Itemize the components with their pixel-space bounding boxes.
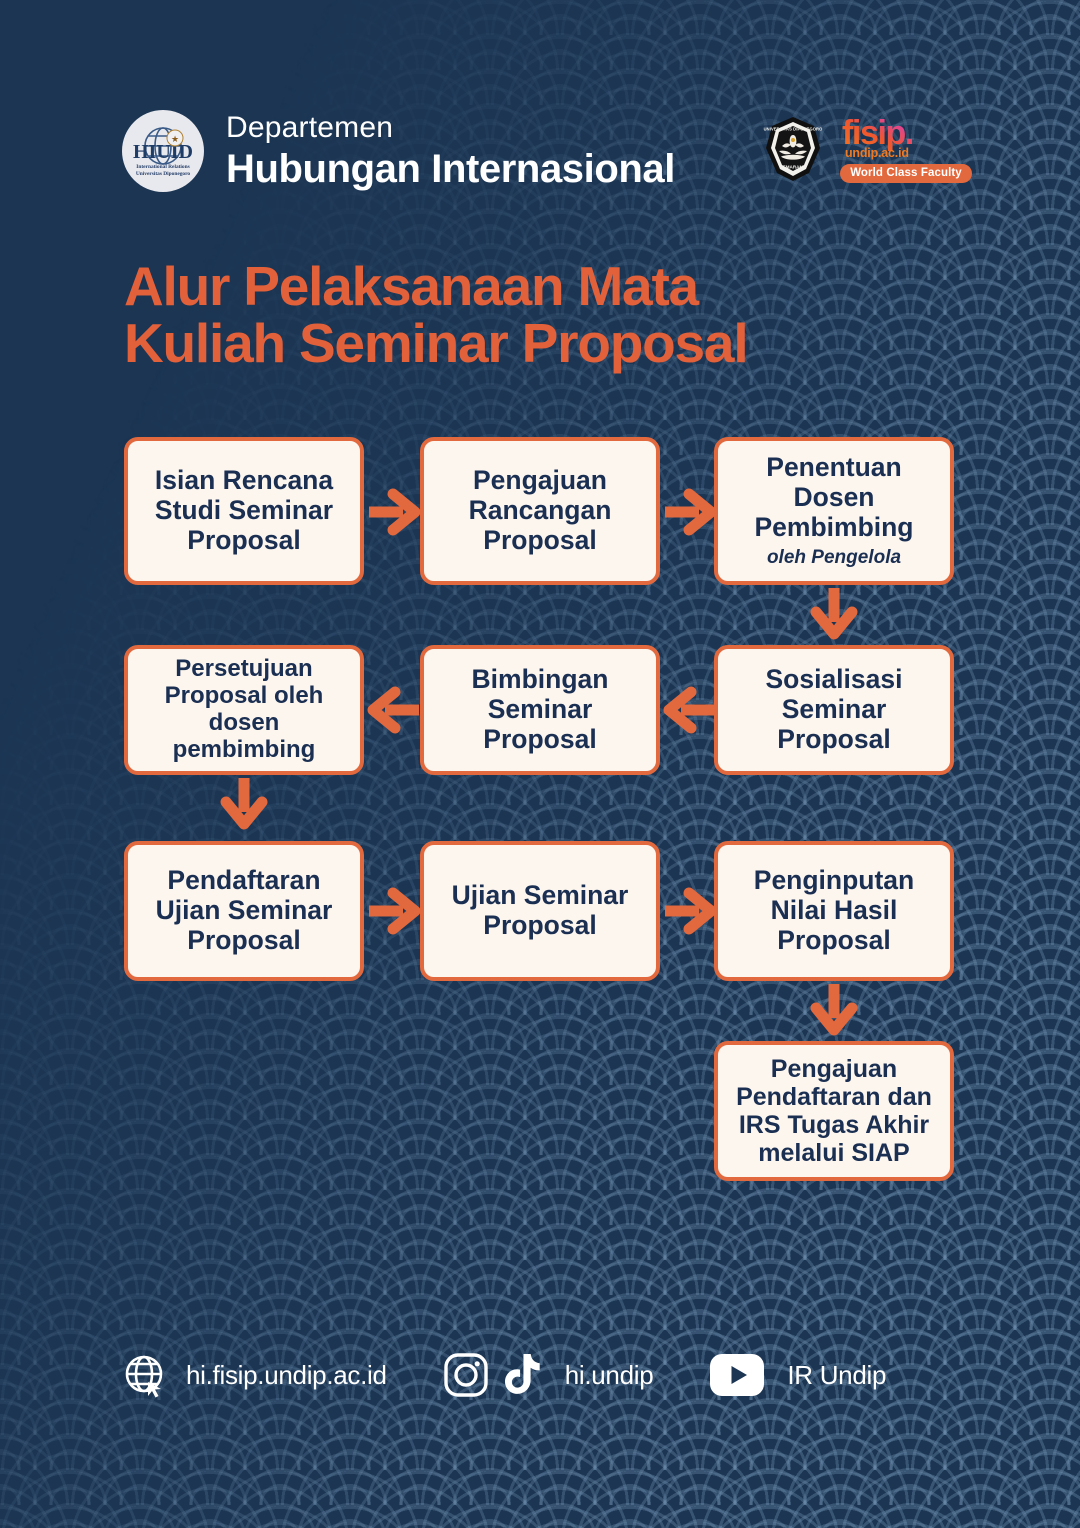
page-title-line-2: Kuliah Seminar Proposal — [124, 315, 954, 372]
flow-node-penentuan-dosen-pembimbing[interactable]: Penentuan Dosen Pembimbing oleh Pengelol… — [714, 437, 954, 585]
flow-arrow-n3-n4 — [811, 588, 857, 640]
flow-node-pendaftaran-ujian[interactable]: Pendaftaran Ujian Seminar Proposal — [124, 841, 364, 981]
footer-youtube-label: IR Undip — [787, 1360, 886, 1391]
department-text: Departemen Hubungan Internasional — [226, 113, 675, 189]
flow-node-sublabel: oleh Pengelola — [767, 547, 901, 568]
flow-node-label: Pengajuan Pendaftaran dan IRS Tugas Akhi… — [728, 1055, 940, 1167]
department-name: Hubungan Internasional — [226, 149, 675, 189]
globe-website-icon — [122, 1352, 168, 1398]
footer-website[interactable]: hi.fisip.undip.ac.id — [122, 1352, 387, 1398]
flow-node-pengajuan-irs-tugas-akhir[interactable]: Pengajuan Pendaftaran dan IRS Tugas Akhi… — [714, 1041, 954, 1181]
youtube-icon — [709, 1352, 765, 1398]
undip-seal-bottom-text: SEMARANG — [780, 164, 807, 169]
undip-seal-top-text: UNIVERSITAS DIPONEGORO — [764, 126, 823, 131]
flow-arrow-n7-n8 — [369, 888, 421, 934]
flow-arrow-n2-n3 — [665, 489, 717, 535]
footer: hi.fisip.undip.ac.id hi.undip IR U — [122, 1352, 886, 1398]
flow-arrow-n6-n7 — [221, 778, 267, 830]
flow-arrow-n8-n9 — [665, 888, 717, 934]
flow-arrow-n5-n6 — [367, 687, 419, 733]
undip-seal-icon: UNIVERSITAS DIPONEGORO SEMARANG — [762, 115, 824, 183]
flow-node-label: Isian Rencana Studi Seminar Proposal — [138, 466, 350, 555]
flow-node-label: Persetujuan Proposal oleh dosen pembimbi… — [138, 656, 350, 764]
fisip-url-text: undip.ac.id — [845, 146, 909, 160]
header: HIUID ★ International Relations Universi… — [0, 110, 1080, 210]
flow-node-ujian-seminar[interactable]: Ujian Seminar Proposal — [420, 841, 660, 981]
hi-logo-monogram: HIUID — [133, 141, 193, 163]
world-class-faculty-badge: World Class Faculty — [840, 164, 972, 183]
flow-node-persetujuan-proposal[interactable]: Persetujuan Proposal oleh dosen pembimbi… — [124, 645, 364, 775]
flow-node-label: Penentuan Dosen Pembimbing — [728, 453, 940, 542]
department-block: HIUID ★ International Relations Universi… — [122, 110, 675, 192]
page-title-line-1: Alur Pelaksanaan Mata — [124, 258, 954, 315]
flow-node-label: Bimbingan Seminar Proposal — [434, 665, 646, 754]
flow-node-penginputan-nilai[interactable]: Penginputan Nilai Hasil Proposal — [714, 841, 954, 981]
flow-node-pengajuan-rancangan[interactable]: Pengajuan Rancangan Proposal — [420, 437, 660, 585]
footer-social-handles[interactable]: hi.undip — [443, 1352, 654, 1398]
flow-node-label: Pengajuan Rancangan Proposal — [434, 466, 646, 555]
hi-logo-subtitle-1: International Relations — [136, 164, 189, 170]
department-label: Departemen — [226, 113, 675, 143]
page-title: Alur Pelaksanaan Mata Kuliah Seminar Pro… — [124, 258, 954, 371]
hi-undip-globe-icon: HIUID ★ International Relations Universi… — [130, 118, 196, 184]
footer-website-label: hi.fisip.undip.ac.id — [186, 1360, 387, 1391]
svg-text:★: ★ — [171, 134, 179, 144]
hi-undip-globe-logo: HIUID ★ International Relations Universi… — [122, 110, 204, 192]
fisip-wordmark-icon: fisip. undip.ac.id — [840, 114, 972, 162]
tiktok-icon — [499, 1352, 541, 1398]
partner-logos: UNIVERSITAS DIPONEGORO SEMARANG — [762, 114, 972, 183]
flow-node-label: Sosialisasi Seminar Proposal — [728, 665, 940, 754]
fisip-logo: fisip. undip.ac.id World Class Faculty — [840, 114, 972, 183]
flow-node-label: Ujian Seminar Proposal — [434, 881, 646, 940]
flow-node-isian-rencana-studi[interactable]: Isian Rencana Studi Seminar Proposal — [124, 437, 364, 585]
flow-arrow-n4-n5 — [663, 687, 715, 733]
flow-arrow-n1-n2 — [369, 489, 421, 535]
flow-node-label: Pendaftaran Ujian Seminar Proposal — [138, 866, 350, 955]
flow-arrow-n9-n10 — [811, 984, 857, 1036]
instagram-icon — [443, 1352, 489, 1398]
footer-social-label: hi.undip — [565, 1360, 654, 1391]
footer-youtube[interactable]: IR Undip — [709, 1352, 886, 1398]
flow-node-label: Penginputan Nilai Hasil Proposal — [728, 866, 940, 955]
hi-logo-subtitle-2: Universitas Diponegoro — [136, 171, 191, 177]
flow-node-sosialisasi-seminar[interactable]: Sosialisasi Seminar Proposal — [714, 645, 954, 775]
poster-root: HIUID ★ International Relations Universi… — [0, 0, 1080, 1528]
flow-node-bimbingan-seminar[interactable]: Bimbingan Seminar Proposal — [420, 645, 660, 775]
